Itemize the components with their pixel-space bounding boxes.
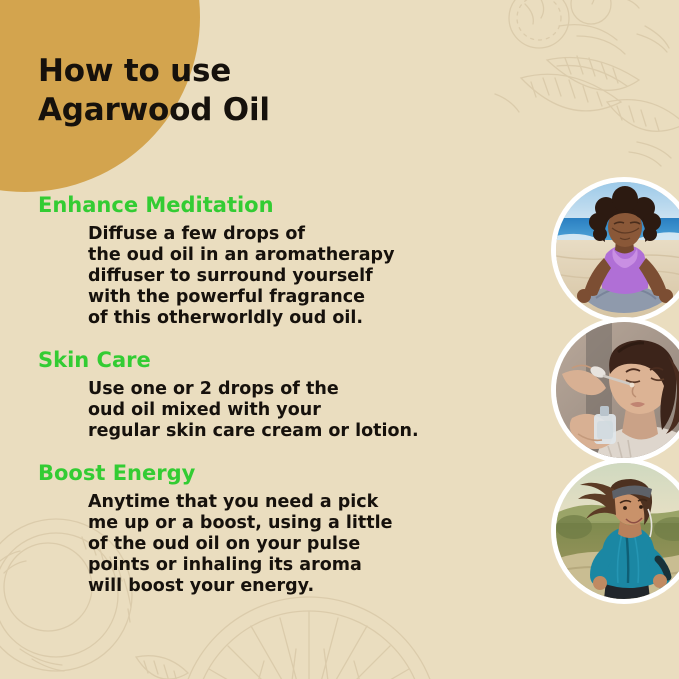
section-boost-energy: Boost Energy Anytime that you need a pic…: [0, 458, 520, 597]
section-enhance-meditation: Enhance Meditation Diffuse a few drops o…: [0, 190, 520, 329]
body-line: me up or a boost, using a little: [88, 513, 520, 534]
page-title: How to use Agarwood Oil: [38, 52, 458, 130]
photo-skincare: [551, 317, 679, 463]
section-heading-boost-energy: Boost Energy: [38, 458, 520, 488]
section-body-skin-care: Use one or 2 drops of the oud oil mixed …: [88, 379, 520, 442]
sections-list: Enhance Meditation Diffuse a few drops o…: [0, 190, 520, 599]
body-line: of the oud oil on your pulse: [88, 534, 520, 555]
infographic-poster: How to use Agarwood Oil Enhance Meditati…: [0, 0, 679, 679]
photo-meditation: [551, 177, 679, 323]
body-line: regular skin care cream or lotion.: [88, 421, 520, 442]
body-line: will boost your energy.: [88, 576, 520, 597]
meditation-photo-art: [556, 182, 679, 318]
body-line: points or inhaling its aroma: [88, 555, 520, 576]
body-line: oud oil mixed with your: [88, 400, 520, 421]
body-line: Anytime that you need a pick: [88, 492, 520, 513]
section-skin-care: Skin Care Use one or 2 drops of the oud …: [0, 345, 520, 442]
section-body-enhance-meditation: Diffuse a few drops of the oud oil in an…: [88, 224, 520, 329]
section-heading-skin-care: Skin Care: [38, 345, 520, 375]
body-line: Use one or 2 drops of the: [88, 379, 520, 400]
body-line: Diffuse a few drops of: [88, 224, 520, 245]
section-heading-enhance-meditation: Enhance Meditation: [38, 190, 520, 220]
title-line-2: Agarwood Oil: [38, 91, 458, 130]
body-line: of this otherworldly oud oil.: [88, 308, 520, 329]
title-line-1: How to use: [38, 52, 458, 91]
body-line: the oud oil in an aromatherapy: [88, 245, 520, 266]
citrus-slice-watermark-icon: [176, 587, 442, 679]
photo-energy: [551, 458, 679, 604]
body-line: with the powerful fragrance: [88, 287, 520, 308]
section-body-boost-energy: Anytime that you need a pick me up or a …: [88, 492, 520, 597]
body-line: diffuser to surround yourself: [88, 266, 520, 287]
botanical-branch-watermark-icon: [487, 0, 679, 193]
energy-photo-art: [556, 463, 679, 599]
skincare-photo-art: [556, 322, 679, 458]
